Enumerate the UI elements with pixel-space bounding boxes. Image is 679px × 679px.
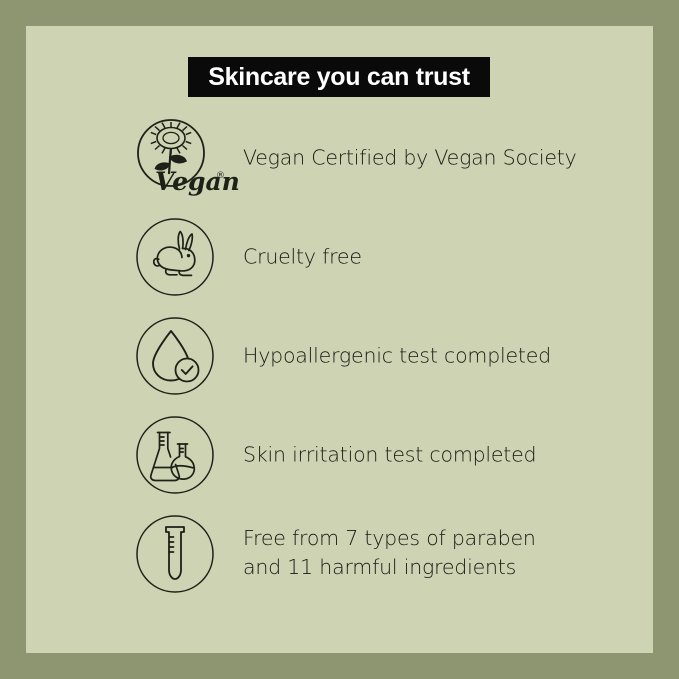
list-item: Vegan ® Vegan Certified by Vegan Society bbox=[26, 108, 653, 207]
vegan-logo-word: Vegan bbox=[155, 167, 240, 196]
rabbit-icon bbox=[134, 216, 216, 298]
registered-mark: ® bbox=[216, 171, 225, 181]
list-item-label: Hypoallergenic test completed bbox=[243, 341, 551, 370]
test-tube-icon bbox=[134, 513, 216, 595]
list-item: Hypoallergenic test completed bbox=[26, 306, 653, 405]
list-item: Cruelty free bbox=[26, 207, 653, 306]
list-item-label: Skin irritation test completed bbox=[243, 440, 536, 469]
list-item: Free from 7 types of paraben and 11 harm… bbox=[26, 504, 653, 603]
content-panel: Skincare you can trust bbox=[26, 26, 653, 653]
water-drop-check-icon bbox=[134, 315, 216, 397]
list-item-label: Cruelty free bbox=[243, 242, 362, 271]
list-item-label: Vegan Certified by Vegan Society bbox=[243, 143, 577, 172]
list-item: Skin irritation test completed bbox=[26, 405, 653, 504]
title-banner: Skincare you can trust bbox=[188, 57, 490, 97]
list-item-label: Free from 7 types of paraben and 11 harm… bbox=[243, 524, 536, 584]
vegan-society-logo-icon: Vegan ® bbox=[134, 117, 216, 199]
image-frame: Skincare you can trust bbox=[0, 0, 679, 679]
page-title: Skincare you can trust bbox=[208, 65, 470, 90]
trust-claims-list: Vegan ® Vegan Certified by Vegan Society bbox=[26, 108, 653, 603]
lab-flasks-icon bbox=[134, 414, 216, 496]
